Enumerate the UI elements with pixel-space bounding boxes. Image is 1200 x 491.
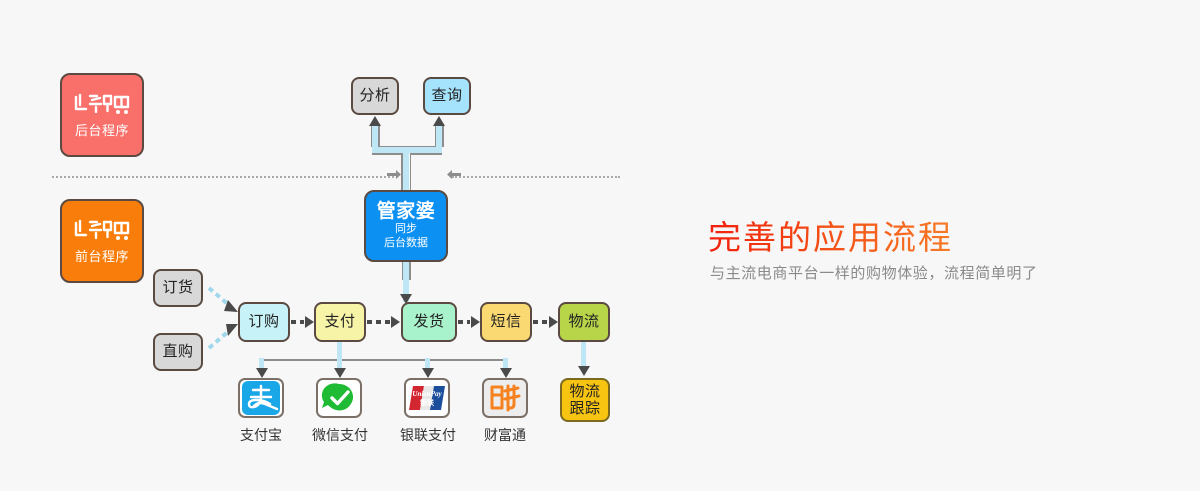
logistics-tracking-node[interactable]: 物流 跟踪 [560,378,610,422]
backend-program-logo: 后台程序 [60,73,144,157]
brand-node[interactable]: 管家婆 同步 后台数据 [364,190,448,262]
logistics-tracking-line1: 物流 [569,383,600,400]
trunk-edge-left [401,150,403,192]
logistics-tracking-line2: 跟踪 [569,400,600,417]
flow-node-sms[interactable]: 短信 [480,302,532,342]
dashed-arrow-payment-to-shipping [367,313,401,331]
brand-sub-line1: 同步 [395,223,417,237]
backend-program-caption: 后台程序 [75,120,129,139]
dashed-arrow-sms-to-logistics [533,313,559,331]
flow-node-sms-label: 短信 [490,313,521,330]
brand-name: 管家婆 [377,202,436,221]
alipay-tile[interactable] [238,378,284,418]
unionpay-tile[interactable]: UnionPay 银联 [404,378,450,418]
arrow-to-logistics-tracking [577,364,591,376]
brand-sub-line2: 后台数据 [384,237,428,251]
divider-arrow-right [446,169,462,185]
wechat-tile[interactable] [316,378,362,418]
crossbar-edge-top [372,146,442,148]
section-divider-right [452,176,620,178]
direct-buy-label: 直购 [162,343,193,360]
flow-node-payment[interactable]: 支付 [314,302,366,342]
alipay-icon [240,380,282,416]
query-node-label: 查询 [431,87,462,104]
riser-analysis-edge-right [378,125,380,147]
flow-node-shipping-label: 发货 [413,313,444,330]
frontend-program-logo: 前台程序 [60,199,144,283]
tenpay-tile[interactable] [482,378,528,418]
flow-node-shipping[interactable]: 发货 [401,302,457,342]
arrow-to-unionpay [421,366,435,378]
brand-down-edge-right [409,262,411,280]
dashed-arrow-order-to-payment [291,313,315,331]
order-entry-label: 订货 [162,279,193,296]
tenpay-label: 财富通 [459,425,551,445]
cart-logo-icon [73,92,131,116]
wechat-label: 微信支付 [294,425,386,445]
unionpay-icon: UnionPay 银联 [407,384,447,412]
order-entry-node[interactable]: 订货 [153,269,203,307]
crossbar-edge-bottom-left [372,153,403,155]
crossbar-edge-bottom-right [410,153,443,155]
flow-node-payment-label: 支付 [324,313,355,330]
section-divider-left [52,176,394,178]
dashed-arrow-shipping-to-sms [458,313,481,331]
arrow-to-alipay [255,366,269,378]
flow-node-logistics-label: 物流 [568,313,599,330]
frontend-program-caption: 前台程序 [75,246,129,265]
flow-node-logistics[interactable]: 物流 [558,302,610,342]
arrow-to-wechat [333,366,347,378]
trunk-edge-right [410,150,412,192]
payment-bus-line [259,359,508,361]
flow-node-order-label: 订购 [248,313,279,330]
query-node[interactable]: 查询 [423,77,471,115]
diagram-canvas: 后台程序 前台程序 分析 查询 [0,0,1200,491]
tenpay-icon [487,382,523,414]
riser-query-edge-right [442,125,444,147]
arrow-to-query [432,116,446,128]
direct-buy-node[interactable]: 直购 [153,333,203,371]
cart-logo-icon [73,218,131,242]
analysis-node[interactable]: 分析 [351,77,399,115]
riser-query-edge-left [435,125,437,147]
flow-node-order[interactable]: 订购 [238,302,290,342]
arrow-to-analysis [368,116,382,128]
wechat-icon [319,381,359,415]
arrow-to-tenpay [499,366,513,378]
riser-analysis-edge-left [371,125,373,147]
trunk-highlight [403,150,409,192]
divider-arrow-left [386,169,402,185]
svg-text:UnionPay: UnionPay [412,390,442,398]
analysis-node-label: 分析 [359,87,390,104]
page-subtitle: 与主流电商平台一样的购物体验，流程简单明了 [710,262,1038,283]
page-title: 完善的应用流程 [708,211,953,259]
svg-text:银联: 银联 [420,398,435,407]
